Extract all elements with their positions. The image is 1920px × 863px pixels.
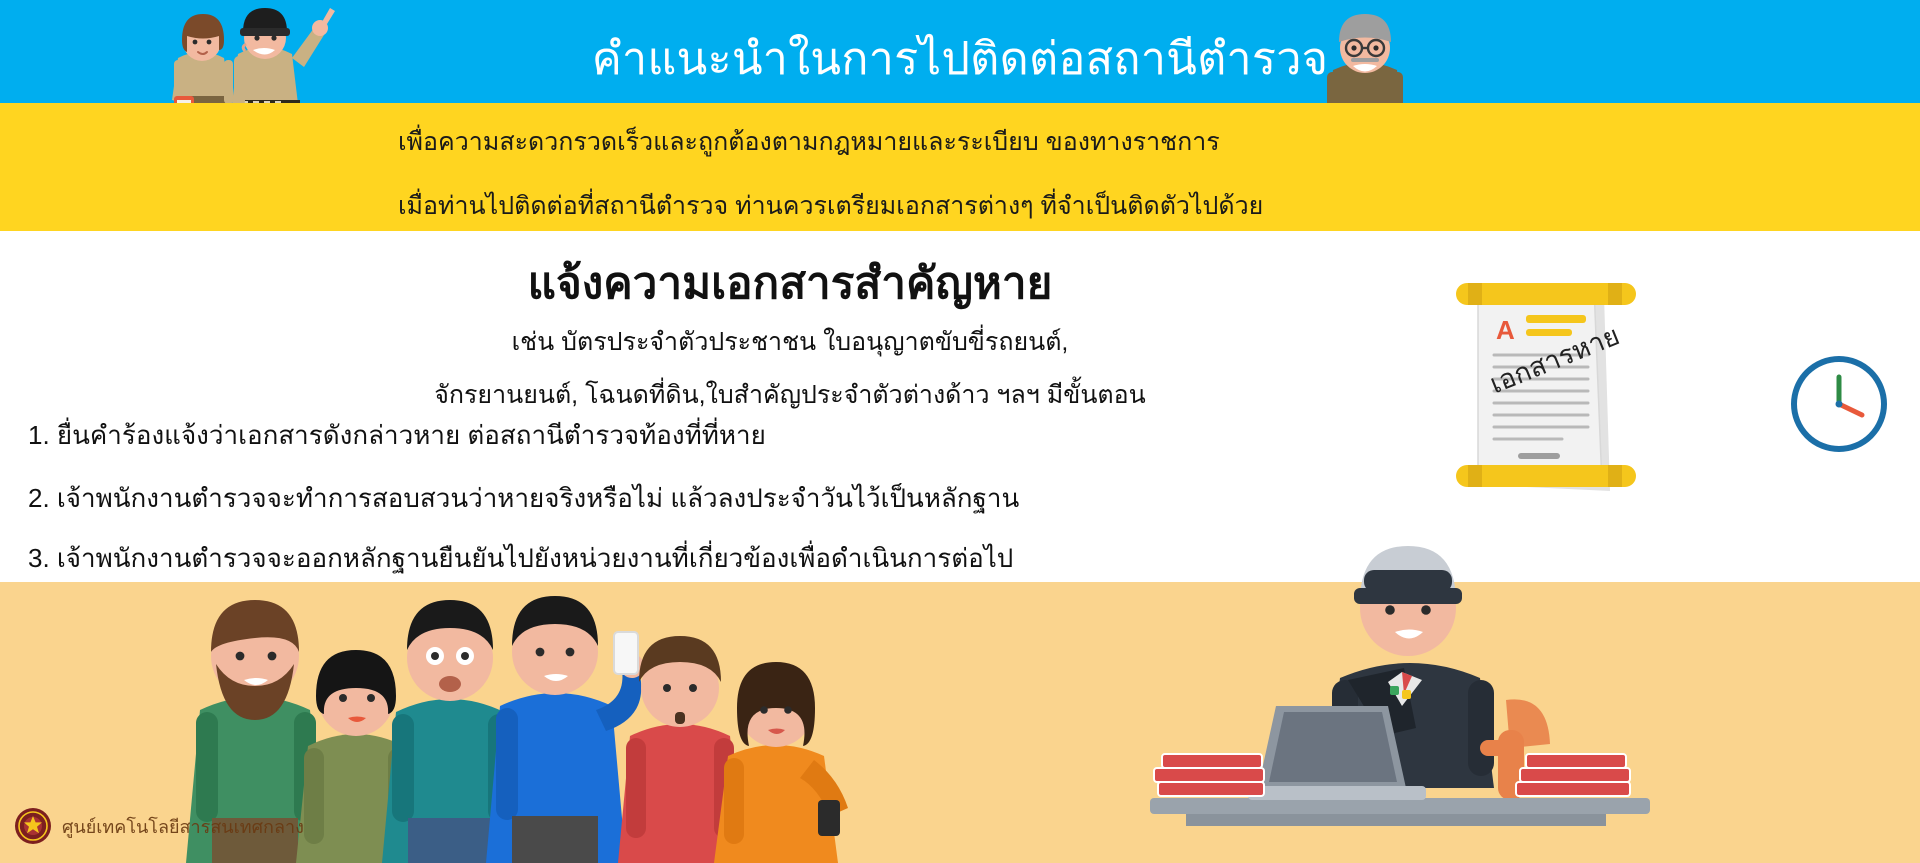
police-technology-center-emblem	[14, 807, 52, 845]
step-item-2: 2. เจ้าพนักงานตำรวจจะทำการสอบสวนว่าหายจร…	[28, 478, 1019, 519]
document-scroll-icon: A	[1442, 277, 1667, 512]
citizen-6	[714, 662, 848, 863]
examples-line-2: จักรยานยนต์, โฉนดที่ดิน,ใบสำคัญประจำตัวต…	[0, 375, 1580, 415]
footer-organization-name: ศูนย์เทคโนโลยีสารสนเทศกลาง	[62, 812, 304, 841]
illustration-citizens-queue	[190, 560, 1120, 863]
citizen-4	[486, 596, 644, 863]
step-item-1: 1. ยื่นคำร้องแจ้งว่าเอกสารดังกล่าวหาย ต่…	[28, 415, 766, 456]
examples-line-1: เช่น บัตรประจำตัวประชาชน ใบอนุญาตขับขี่ร…	[0, 322, 1580, 362]
page-title: คำแนะนำในการไปติดต่อสถานีตำรวจ	[0, 22, 1920, 94]
book-stack-right	[1516, 754, 1630, 796]
notice-line-1: เพื่อความสะดวกรวดเร็วและถูกต้องตามกฎหมาย…	[398, 122, 1220, 162]
mobile-phone-icon	[614, 632, 638, 674]
notice-line-2: เมื่อท่านไปติดต่อที่สถานีตำรวจ ท่านควรเต…	[398, 186, 1263, 226]
book-stack-left	[1154, 754, 1264, 796]
clock-icon	[1788, 353, 1890, 455]
document-initial-letter: A	[1496, 315, 1515, 345]
mobile-phone-icon-2	[818, 800, 840, 836]
illustration-officer-at-desk	[1150, 530, 1780, 863]
main-heading: แจ้งความเอกสารสำคัญหาย	[0, 248, 1580, 318]
infographic-poster: คำแนะนำในการไปติดต่อสถานีตำรวจ เพื่อคว	[0, 0, 1920, 863]
